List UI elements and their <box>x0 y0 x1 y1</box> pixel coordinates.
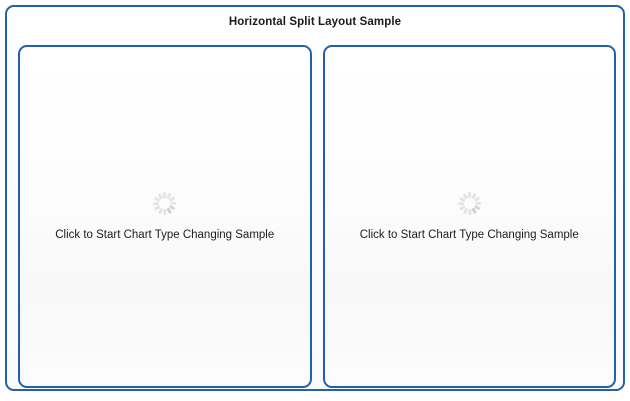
panel-content-left: Click to Start Chart Type Changing Sampl… <box>20 47 310 386</box>
chart-panel-right[interactable]: Click to Start Chart Type Changing Sampl… <box>323 45 617 388</box>
horizontal-split-container: Click to Start Chart Type Changing Sampl… <box>18 45 616 388</box>
chart-panel-left[interactable]: Click to Start Chart Type Changing Sampl… <box>18 45 312 388</box>
page-title: Horizontal Split Layout Sample <box>229 16 401 28</box>
app-root: Horizontal Split Layout Sample Click to … <box>0 0 630 401</box>
loading-spinner-icon <box>153 192 176 215</box>
panel-prompt-right[interactable]: Click to Start Chart Type Changing Sampl… <box>360 229 579 241</box>
panel-content-right: Click to Start Chart Type Changing Sampl… <box>325 47 615 386</box>
title-bar: Horizontal Split Layout Sample <box>7 7 623 37</box>
panel-prompt-left[interactable]: Click to Start Chart Type Changing Sampl… <box>55 229 274 241</box>
window-frame: Horizontal Split Layout Sample Click to … <box>5 5 625 391</box>
loading-spinner-icon <box>458 192 481 215</box>
